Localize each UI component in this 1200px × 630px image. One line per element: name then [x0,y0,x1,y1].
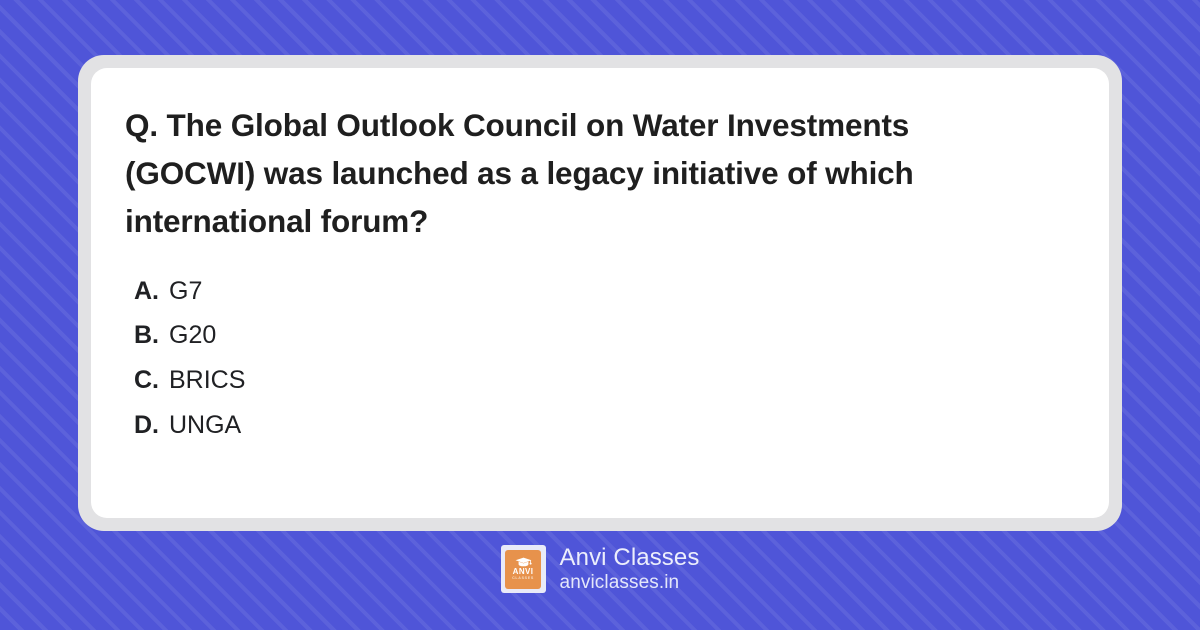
option-label: UNGA [169,403,241,448]
option-c[interactable]: C. BRICS [134,358,1071,403]
options-list: A. G7 B. G20 C. BRICS D. UNGA [125,269,1071,448]
brand-logo-subtitle: CLASSES [512,577,534,581]
question-text: Q. The Global Outlook Council on Water I… [125,101,1040,246]
brand-logo-name: ANVI [513,568,534,576]
footer-branding: ANVI CLASSES Anvi Classes anviclasses.in [0,545,1200,593]
brand-logo-tile: ANVI CLASSES [505,550,541,589]
option-d[interactable]: D. UNGA [134,403,1071,448]
brand-url: anviclasses.in [560,572,700,593]
graduation-cap-icon [515,557,532,567]
option-letter: B. [134,313,161,358]
option-letter: A. [134,269,161,314]
option-a[interactable]: A. G7 [134,269,1071,314]
option-label: G20 [169,313,216,358]
question-card-inner: Q. The Global Outlook Council on Water I… [91,68,1109,518]
option-letter: C. [134,358,161,403]
brand-text-block: Anvi Classes anviclasses.in [560,545,700,593]
question-card: Q. The Global Outlook Council on Water I… [78,55,1122,531]
brand-title: Anvi Classes [560,545,700,572]
option-b[interactable]: B. G20 [134,313,1071,358]
option-label: BRICS [169,358,245,403]
option-letter: D. [134,403,161,448]
option-label: G7 [169,269,202,314]
brand-logo: ANVI CLASSES [501,545,546,593]
